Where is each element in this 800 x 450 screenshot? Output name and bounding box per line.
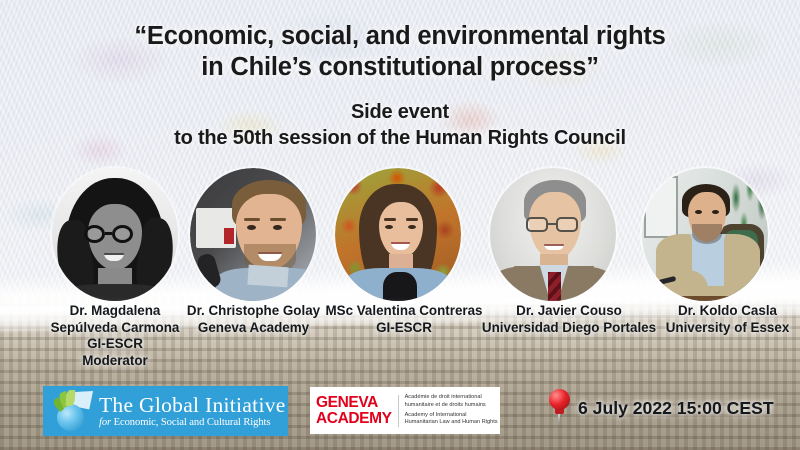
speaker-1-role: Moderator: [27, 353, 203, 370]
speaker-card-5: [642, 168, 768, 301]
event-datetime-text: 6 July 2022 15:00 CEST: [578, 398, 774, 419]
event-datetime: 6 July 2022 15:00 CEST: [548, 388, 774, 428]
speaker-5-name: Dr. Koldo Casla: [655, 303, 800, 320]
globe-leaf-icon: [49, 390, 95, 432]
geneva-academy-subtitle-en-1: Academy of International: [405, 412, 498, 419]
geneva-academy-logo[interactable]: GENEVA ACADEMY Académie de droit interna…: [310, 387, 500, 434]
speaker-photo-2: [190, 168, 316, 301]
gi-escr-tagline-for: for: [99, 417, 111, 428]
speaker-photo-3: [335, 168, 461, 301]
speaker-photo-1: [52, 168, 178, 301]
speaker-names-row: Dr. Magdalena Sepúlveda Carmona GI-ESCR …: [0, 303, 800, 371]
speaker-card-4: [490, 168, 616, 301]
gi-escr-logo[interactable]: The Global Initiative for Economic, Soci…: [43, 386, 288, 436]
speaker-photo-5: [642, 168, 768, 301]
speaker-name-4: Dr. Javier Couso Universidad Diego Porta…: [478, 303, 660, 336]
speaker-card-2: [190, 168, 316, 301]
geneva-academy-name: GENEVA ACADEMY: [310, 395, 392, 427]
geneva-academy-subtitle: Académie de droit international humanita…: [405, 394, 498, 427]
gi-escr-tagline-rest: Economic, Social and Cultural Rights: [111, 417, 270, 428]
speaker-name-2: Dr. Christophe Golay Geneva Academy: [178, 303, 329, 336]
speaker-2-name: Dr. Christophe Golay: [178, 303, 329, 320]
geneva-academy-subtitle-fr-1: Académie de droit international: [405, 394, 498, 401]
speaker-1-name-line-2: Sepúlveda Carmona: [27, 320, 203, 337]
speaker-card-3: [335, 168, 461, 301]
geneva-academy-subtitle-en-2: Humanitarian Law and Human Rights: [405, 419, 498, 426]
gi-escr-logo-tagline: for Economic, Social and Cultural Rights: [99, 416, 286, 429]
speaker-card-1: [52, 168, 178, 301]
gi-escr-logo-title: The Global Initiative: [99, 394, 286, 416]
speaker-4-name: Dr. Javier Couso: [478, 303, 660, 320]
map-pin-icon: [548, 388, 574, 428]
footer-bar: The Global Initiative for Economic, Soci…: [0, 376, 800, 450]
speaker-name-5: Dr. Koldo Casla University of Essex: [655, 303, 800, 336]
speaker-3-affiliation: GI-ESCR: [324, 320, 484, 337]
speaker-name-3: MSc Valentina Contreras GI-ESCR: [324, 303, 484, 336]
speaker-1-name-line-1: Dr. Magdalena: [27, 303, 203, 320]
geneva-academy-name-line-1: GENEVA: [316, 395, 392, 411]
geneva-academy-subtitle-fr-2: humanitaire et de droits humains: [405, 402, 498, 409]
logo-divider: [398, 395, 399, 427]
speaker-1-affiliation: GI-ESCR: [27, 336, 203, 353]
speaker-2-affiliation: Geneva Academy: [178, 320, 329, 337]
speaker-4-affiliation: Universidad Diego Portales: [478, 320, 660, 337]
speaker-3-name: MSc Valentina Contreras: [324, 303, 484, 320]
speaker-5-affiliation: University of Essex: [655, 320, 800, 337]
speaker-name-1: Dr. Magdalena Sepúlveda Carmona GI-ESCR …: [27, 303, 203, 369]
geneva-academy-name-line-2: ACADEMY: [316, 411, 392, 427]
speaker-photo-4: [490, 168, 616, 301]
